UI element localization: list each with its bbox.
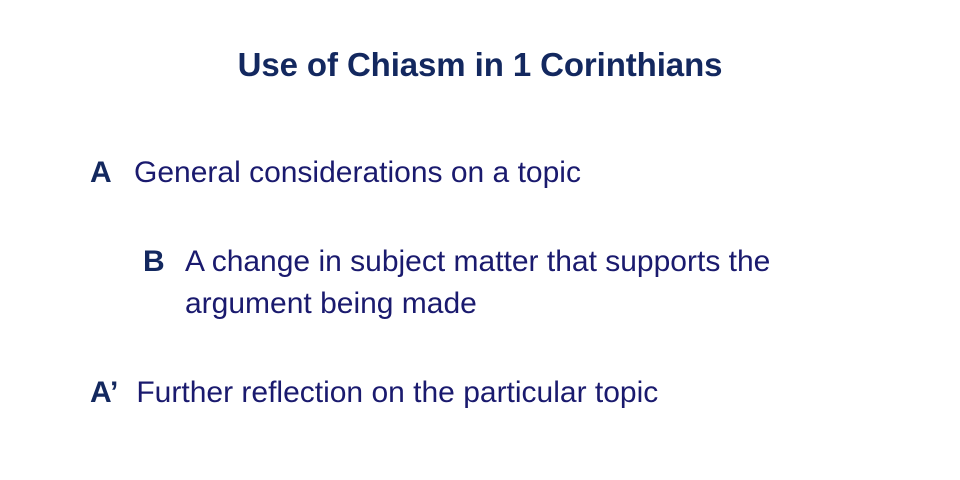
outline-text-b: A change in subject matter that supports… (165, 241, 875, 324)
spacer-a-to-b (0, 193, 960, 241)
chiasm-outline-list: A General considerations on a topic B A … (0, 152, 960, 414)
slide-canvas: Use of Chiasm in 1 Corinthians A General… (0, 0, 960, 480)
outline-text-a: General considerations on a topic (116, 152, 581, 193)
outline-entry-a: A General considerations on a topic (0, 152, 960, 193)
spacer-b-to-a-prime (0, 324, 960, 372)
outline-marker-a-prime: A’ (90, 372, 118, 413)
outline-marker-a: A (90, 152, 116, 193)
outline-entry-a-prime: A’ Further reflection on the particular … (0, 372, 960, 413)
outline-entry-b: B A change in subject matter that suppor… (0, 241, 960, 324)
outline-text-a-prime: Further reflection on the particular top… (118, 372, 658, 413)
page-title: Use of Chiasm in 1 Corinthians (0, 46, 960, 85)
outline-marker-b: B (143, 241, 165, 282)
